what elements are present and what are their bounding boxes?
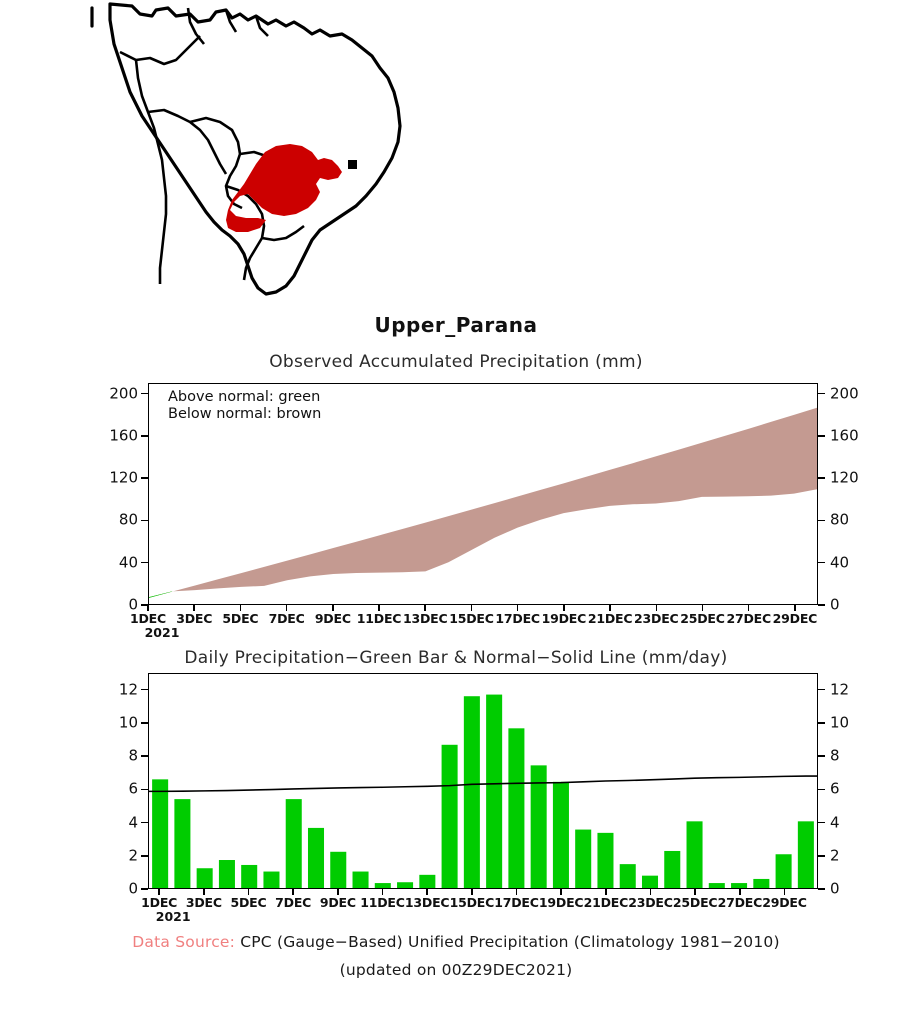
accum-ytick-right: 200: [830, 386, 876, 401]
daily-tick-right: [818, 689, 825, 691]
daily-xtickmark: [560, 889, 562, 895]
daily-ytick-left: 6: [96, 782, 138, 797]
accum-xtickmark: [332, 605, 334, 611]
daily-tick-left: [141, 855, 148, 857]
daily-chart-svg: [149, 674, 817, 888]
accum-xtickmark: [794, 605, 796, 611]
accum-tick-right: [818, 477, 825, 479]
daily-tick-right: [818, 722, 825, 724]
below-normal-band: [149, 408, 817, 598]
accum-ytick-left: 120: [96, 471, 138, 486]
accum-ytick-left: 200: [96, 386, 138, 401]
daily-bar: [419, 875, 435, 888]
accum-ytick-left: 160: [96, 428, 138, 443]
daily-ytick-right: 12: [830, 682, 876, 697]
daily-xtick: 29DEC: [762, 895, 806, 910]
accum-tick-left: [141, 562, 148, 564]
daily-xtick: 19DEC: [539, 895, 583, 910]
daily-precipitation-chart: [148, 673, 818, 889]
accum-ytick-left: 40: [96, 555, 138, 570]
accum-xtick: 1DEC: [130, 611, 166, 626]
daily-bar: [553, 782, 569, 888]
accum-ytick-right: 160: [830, 428, 876, 443]
data-source-text: CPC (Gauge−Based) Unified Precipitation …: [240, 933, 779, 951]
daily-ytick-left: 12: [96, 682, 138, 697]
daily-xtick: 27DEC: [718, 895, 762, 910]
daily-tick-left: [141, 822, 148, 824]
daily-bar: [286, 799, 302, 888]
daily-tick-left: [141, 789, 148, 791]
accum-xtickmark: [424, 605, 426, 611]
normal-line: [149, 776, 817, 791]
accum-xtickmark: [609, 605, 611, 611]
daily-bar: [442, 745, 458, 888]
accum-xtick: 27DEC: [726, 611, 770, 626]
daily-tick-right: [818, 755, 825, 757]
daily-xtickmark: [784, 889, 786, 895]
daily-xtickmark: [426, 889, 428, 895]
daily-bar: [575, 830, 591, 888]
daily-tick-left: [141, 888, 148, 890]
daily-bar: [664, 851, 680, 888]
daily-xyear: 2021: [156, 909, 191, 924]
daily-bar: [330, 852, 346, 888]
accum-xtick: 29DEC: [773, 611, 817, 626]
daily-xtick: 17DEC: [494, 895, 538, 910]
accum-ytick-right: 40: [830, 555, 876, 570]
daily-xtick: 11DEC: [360, 895, 404, 910]
daily-xtickmark: [337, 889, 339, 895]
accum-xyear: 2021: [145, 625, 180, 640]
daily-ytick-left: 0: [96, 882, 138, 897]
accum-tick-left: [141, 520, 148, 522]
daily-bar: [464, 696, 480, 888]
daily-xtick: 1DEC: [141, 895, 177, 910]
daily-ytick-left: 2: [96, 848, 138, 863]
daily-xtick: 9DEC: [320, 895, 356, 910]
accum-xtickmark: [563, 605, 565, 611]
daily-xtick: 5DEC: [231, 895, 267, 910]
accum-xtickmark: [517, 605, 519, 611]
daily-xtickmark: [382, 889, 384, 895]
daily-xtickmark: [292, 889, 294, 895]
daily-bar: [620, 864, 636, 888]
daily-bar: [776, 854, 792, 888]
above-normal-band: [149, 591, 172, 597]
accum-xtick: 11DEC: [357, 611, 401, 626]
daily-bar: [753, 879, 769, 888]
precipitation-report-page: Upper_Parana Observed Accumulated Precip…: [0, 0, 912, 1024]
accum-xtickmark: [656, 605, 658, 611]
data-source-label: Data Source:: [132, 933, 235, 951]
daily-ytick-left: 4: [96, 815, 138, 830]
accum-tick-right: [818, 435, 825, 437]
accum-xtick: 15DEC: [449, 611, 493, 626]
accum-ytick-right: 120: [830, 471, 876, 486]
daily-bar: [798, 821, 814, 888]
legend-above-normal: Above normal: green: [168, 389, 321, 406]
daily-bars-group: [152, 695, 814, 888]
daily-tick-left: [141, 689, 148, 691]
daily-ytick-right: 0: [830, 882, 876, 897]
accum-xtick: 23DEC: [634, 611, 678, 626]
daily-ytick-right: 6: [830, 782, 876, 797]
daily-ytick-right: 10: [830, 715, 876, 730]
accum-xtick: 19DEC: [542, 611, 586, 626]
accum-xtick: 5DEC: [222, 611, 258, 626]
accum-xtickmark: [702, 605, 704, 611]
daily-tick-right: [818, 855, 825, 857]
daily-xtickmark: [605, 889, 607, 895]
daily-xtick: 15DEC: [450, 895, 494, 910]
daily-bar: [709, 883, 725, 888]
updated-line: (updated on 00Z29DEC2021): [0, 961, 912, 979]
daily-bar: [642, 876, 658, 888]
daily-bar: [375, 883, 391, 888]
daily-xtick: 3DEC: [186, 895, 222, 910]
daily-bar: [731, 883, 747, 888]
daily-bar: [397, 882, 413, 888]
accum-tick-left: [141, 477, 148, 479]
daily-xtick: 23DEC: [628, 895, 672, 910]
accum-tick-right: [818, 604, 825, 606]
accum-xtick: 3DEC: [176, 611, 212, 626]
daily-xtickmark: [471, 889, 473, 895]
daily-ytick-right: 2: [830, 848, 876, 863]
daily-xtick: 13DEC: [405, 895, 449, 910]
accum-tick-right: [818, 393, 825, 395]
daily-bar: [508, 728, 524, 888]
accum-xtickmark: [240, 605, 242, 611]
daily-bar: [597, 833, 613, 888]
accum-xtick: 25DEC: [680, 611, 724, 626]
daily-tick-left: [141, 722, 148, 724]
data-source-line: Data Source: CPC (Gauge−Based) Unified P…: [0, 933, 912, 951]
daily-bar: [263, 872, 279, 888]
accum-xtick: 9DEC: [315, 611, 351, 626]
accum-xtick: 7DEC: [269, 611, 305, 626]
accum-xtickmark: [286, 605, 288, 611]
accum-xtickmark: [193, 605, 195, 611]
daily-bar: [486, 695, 502, 888]
daily-bar: [152, 779, 168, 888]
normal-line-group: [149, 776, 817, 791]
daily-panel-title: Daily Precipitation−Green Bar & Normal−S…: [0, 648, 912, 668]
accum-xtickmark: [471, 605, 473, 611]
page-title: Upper_Parana: [0, 313, 912, 337]
accum-xtick: 17DEC: [495, 611, 539, 626]
region-map: [80, 0, 410, 300]
daily-xtickmark: [694, 889, 696, 895]
daily-tick-right: [818, 789, 825, 791]
accum-tick-left: [141, 435, 148, 437]
daily-tick-right: [818, 822, 825, 824]
daily-bar: [687, 821, 703, 888]
daily-ytick-right: 4: [830, 815, 876, 830]
accum-xtick: 13DEC: [403, 611, 447, 626]
daily-bar: [308, 828, 324, 888]
legend-below-normal: Below normal: brown: [168, 406, 321, 423]
daily-xtickmark: [248, 889, 250, 895]
accum-tick-right: [818, 562, 825, 564]
accum-xtickmark: [147, 605, 149, 611]
daily-xtick: 7DEC: [275, 895, 311, 910]
accum-ytick-left: 80: [96, 513, 138, 528]
accum-tick-right: [818, 520, 825, 522]
accum-xtickmark: [748, 605, 750, 611]
map-svg: [80, 0, 410, 300]
daily-xtickmark: [516, 889, 518, 895]
daily-tick-left: [141, 755, 148, 757]
daily-xtickmark: [203, 889, 205, 895]
daily-bar: [353, 872, 369, 888]
accumulated-band: [149, 408, 817, 598]
daily-bar: [241, 865, 257, 888]
accumulated-legend: Above normal: green Below normal: brown: [168, 389, 321, 423]
daily-xtick: 21DEC: [584, 895, 628, 910]
daily-xtickmark: [650, 889, 652, 895]
daily-xtickmark: [739, 889, 741, 895]
daily-xtick: 25DEC: [673, 895, 717, 910]
accum-tick-left: [141, 393, 148, 395]
daily-ytick-left: 8: [96, 749, 138, 764]
accum-xtickmark: [378, 605, 380, 611]
accum-ytick-right: 80: [830, 513, 876, 528]
daily-bar: [174, 799, 190, 888]
daily-xtickmark: [158, 889, 160, 895]
accum-ytick-right: 0: [830, 598, 876, 613]
accumulated-panel-title: Observed Accumulated Precipitation (mm): [0, 352, 912, 372]
daily-ytick-right: 8: [830, 749, 876, 764]
daily-tick-right: [818, 888, 825, 890]
accum-xtick: 21DEC: [588, 611, 632, 626]
daily-bar: [197, 868, 213, 888]
daily-ytick-left: 10: [96, 715, 138, 730]
daily-bar: [219, 860, 235, 888]
